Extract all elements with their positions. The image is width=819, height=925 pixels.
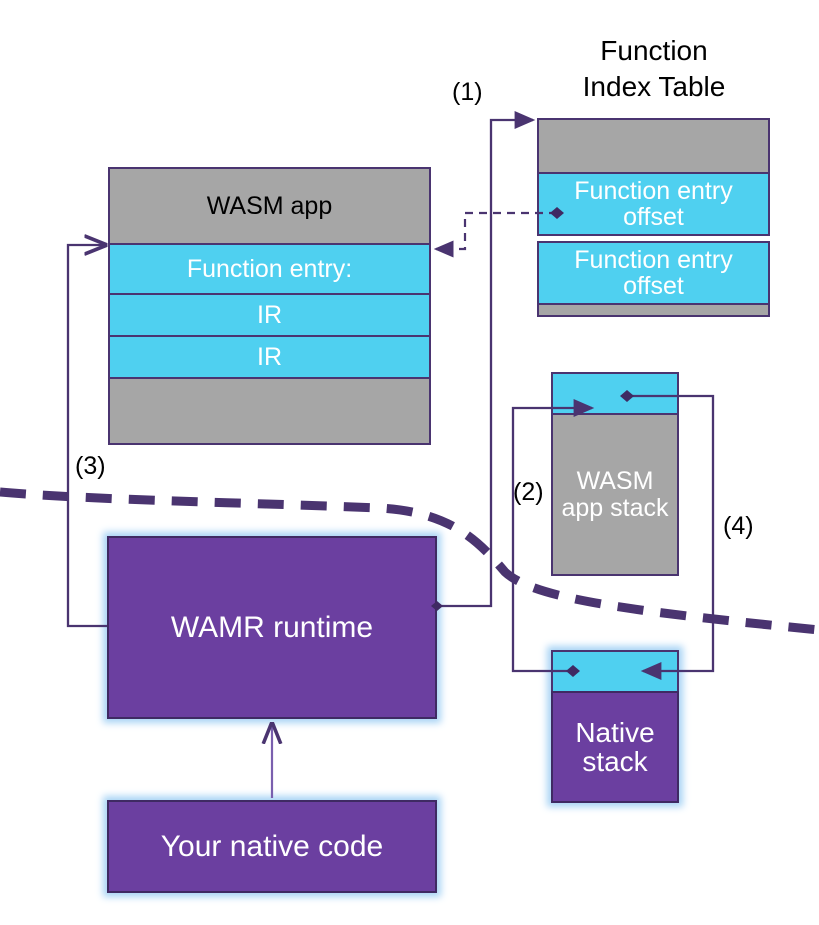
- wasm-app-row-ir-1: IR: [108, 293, 431, 337]
- wasm-app-header: WASM app: [108, 167, 431, 245]
- wasm-app-stack-top-band: [551, 372, 679, 415]
- function-index-table-row-empty-top: [537, 118, 770, 174]
- function-index-table-row-offset-2: Function entry offset: [537, 241, 770, 305]
- native-stack-top-band: [551, 650, 679, 693]
- wasm-app-row-ir-2: IR: [108, 335, 431, 379]
- function-index-table-title: Function Index Table: [539, 33, 769, 105]
- wamr-runtime-block: WAMR runtime: [107, 536, 437, 719]
- connector-step-3: [68, 245, 107, 626]
- function-index-table-row-empty-bottom: [537, 303, 770, 317]
- step-label-2: (2): [513, 478, 544, 507]
- wasm-app-row-function-entry: Function entry:: [108, 243, 431, 295]
- wasm-app-stack-label-line2: app stack: [561, 495, 668, 521]
- function-index-table-title-line2: Index Table: [539, 69, 769, 105]
- wasm-app-stack-label-line1: WASM: [577, 468, 654, 494]
- native-stack-label-line1: Native: [575, 718, 654, 747]
- wasm-app-block: WASM app Function entry: IR IR: [108, 167, 431, 445]
- function-index-table-row-offset-1: Function entry offset: [537, 172, 770, 236]
- wasm-app-stack-body: WASM app stack: [551, 413, 679, 576]
- function-entry-offset-text-2: Function entry offset: [574, 247, 734, 300]
- native-stack-label-line2: stack: [582, 747, 647, 776]
- your-native-code-block: Your native code: [107, 800, 437, 893]
- function-index-table-title-line1: Function: [539, 33, 769, 69]
- step-label-4: (4): [723, 512, 754, 541]
- function-index-table-block: Function entry offset Function entry off…: [537, 118, 770, 317]
- native-stack-body: Native stack: [551, 691, 679, 803]
- native-stack-block: Native stack: [551, 650, 679, 803]
- wasm-app-footer: [108, 377, 431, 445]
- step-label-1: (1): [452, 78, 483, 107]
- diagram-canvas: Function Index Table (1) (2) (3) (4) WAS…: [0, 0, 819, 925]
- function-entry-offset-text-1: Function entry offset: [574, 178, 734, 231]
- wasm-app-stack-block: WASM app stack: [551, 372, 679, 576]
- step-label-3: (3): [75, 452, 106, 481]
- connector-step-1: [437, 120, 533, 606]
